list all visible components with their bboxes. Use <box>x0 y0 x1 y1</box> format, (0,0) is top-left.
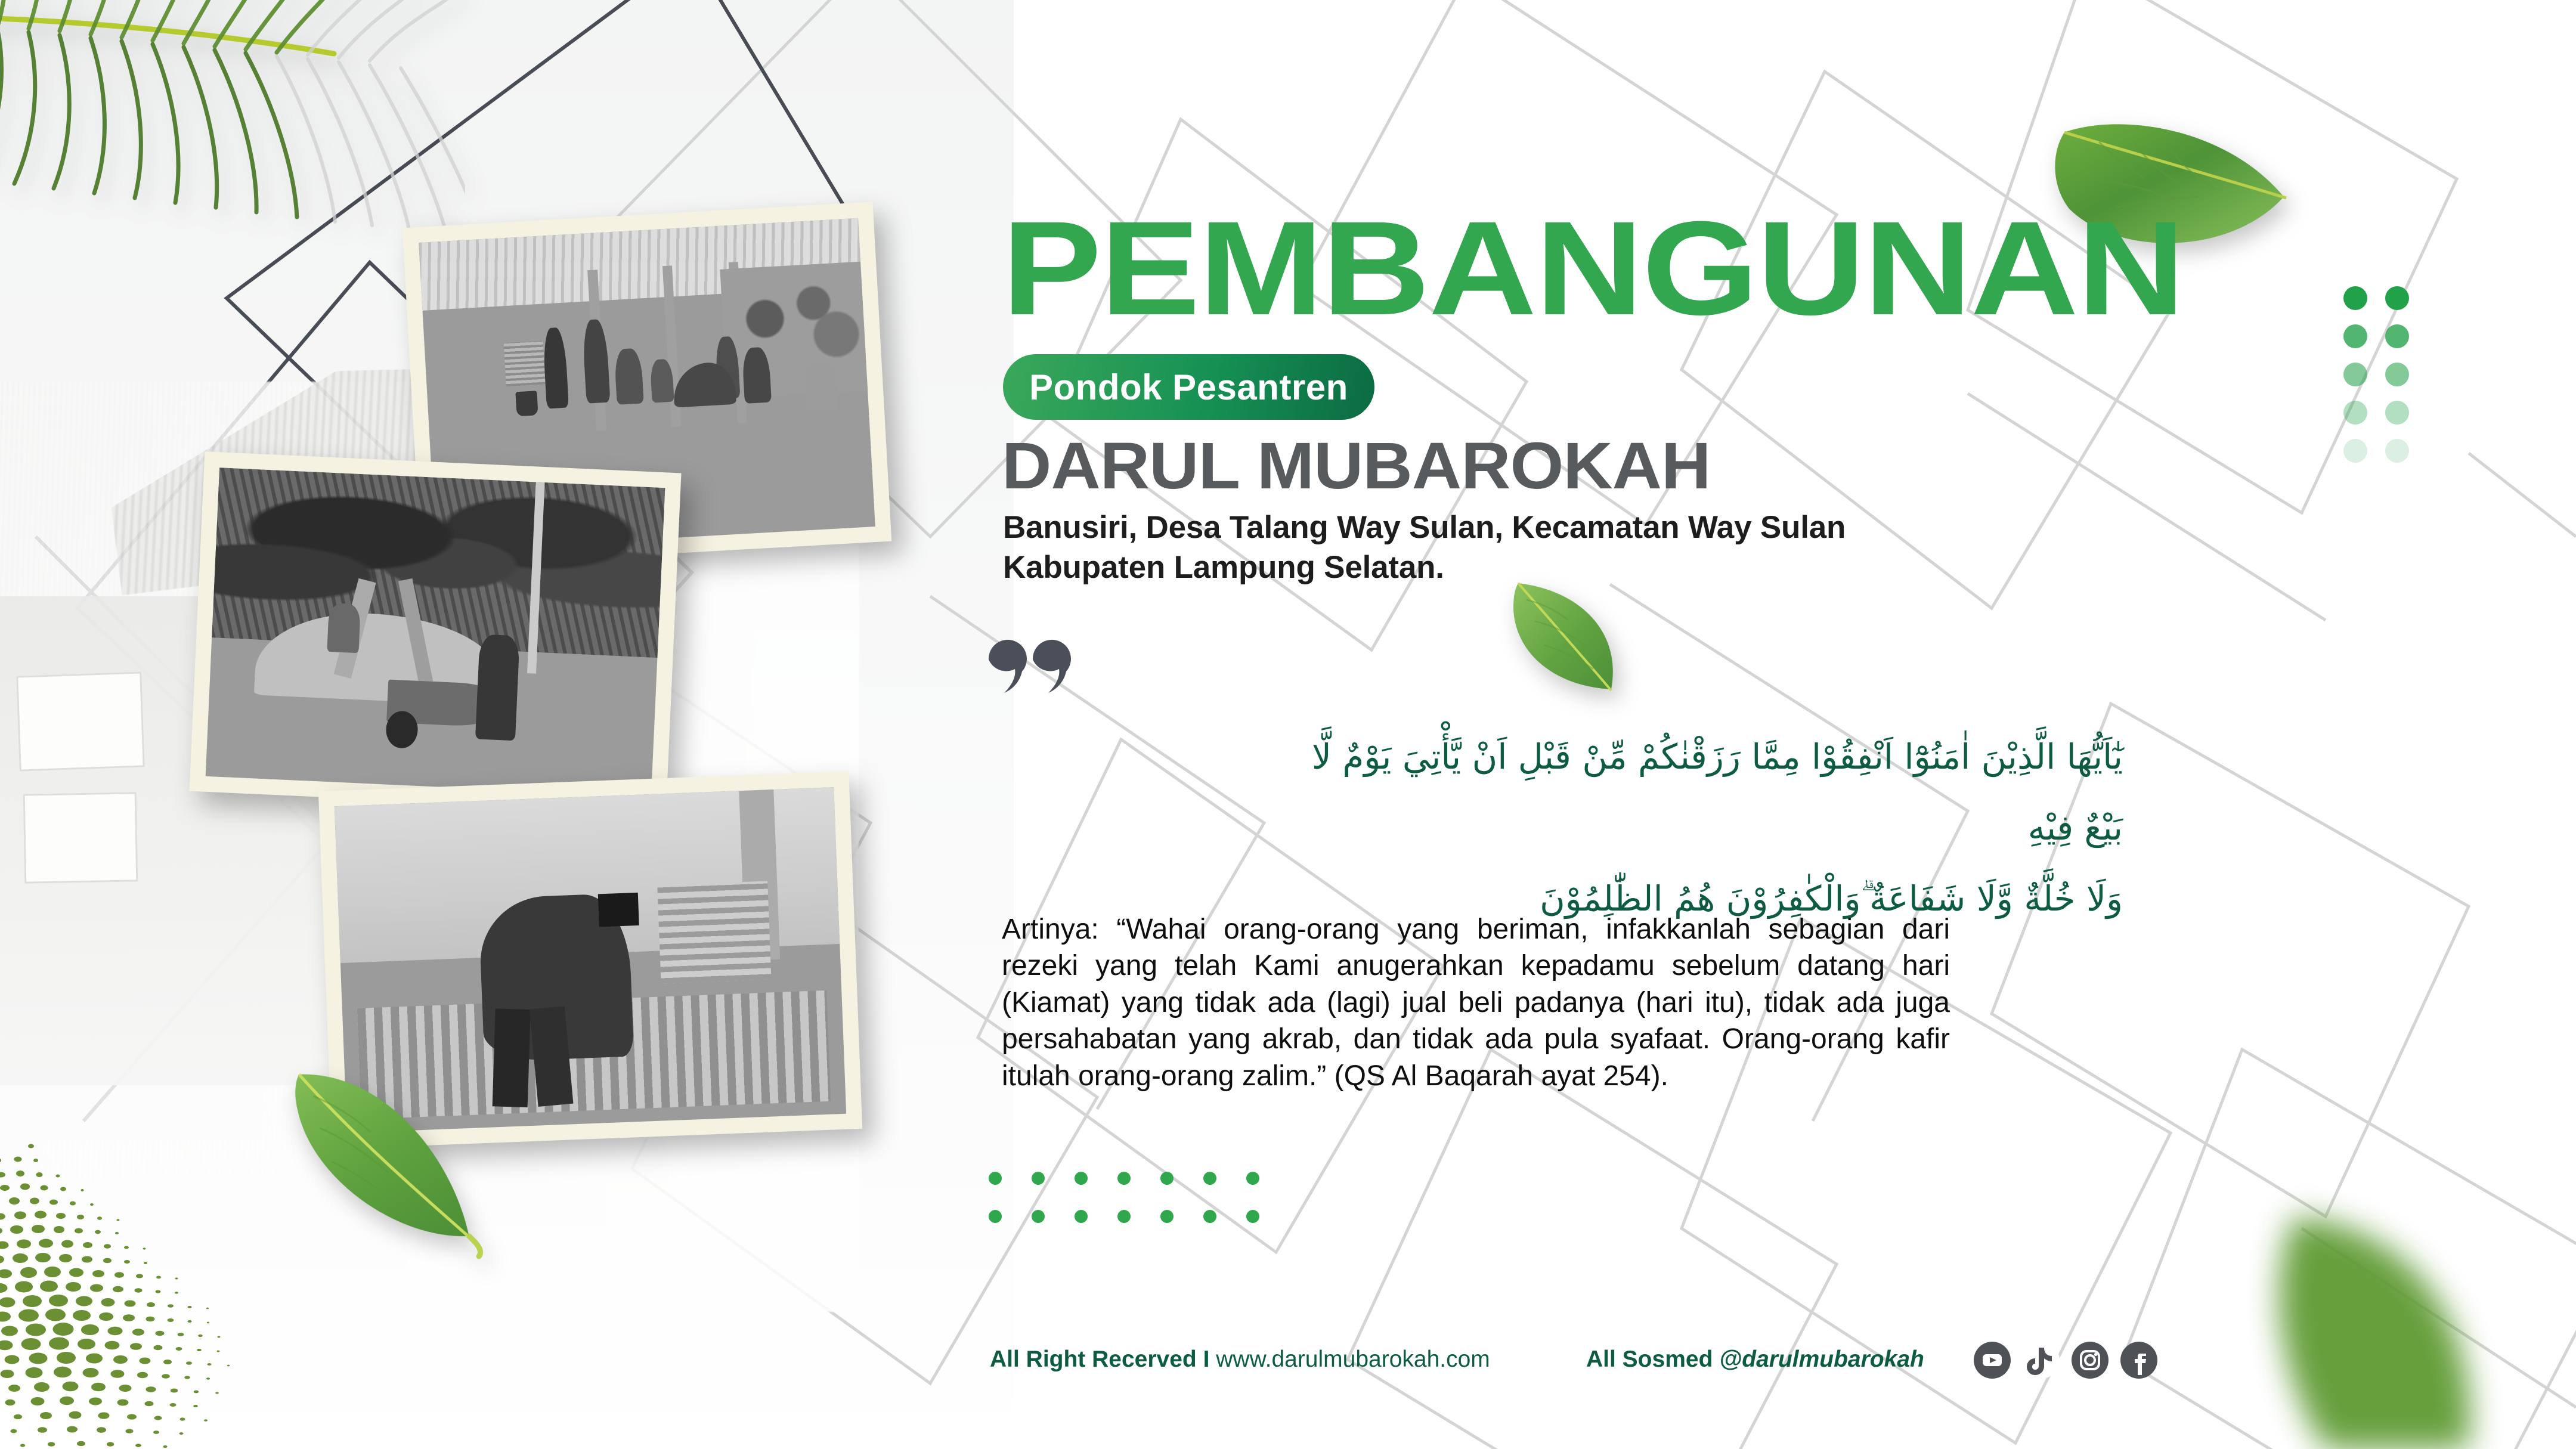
footer: All Right Recerved I www.darulmubarokah.… <box>990 1342 2182 1383</box>
social-icon-row <box>1974 1342 2157 1379</box>
badge-pondok-pesantren: Pondok Pesantren <box>1003 354 1374 420</box>
institution-name: DARUL MUBAROKAH <box>1002 428 1710 504</box>
youtube-icon[interactable] <box>1974 1342 2011 1379</box>
poster-content: PEMBANGUNAN Pondok Pesantren DARUL MUBAR… <box>1002 0 2576 1449</box>
side-dot-column-decoration <box>2343 286 2427 483</box>
address-line-2: Kabupaten Lampung Selatan. <box>1003 548 2017 588</box>
quote-mark-icon <box>984 632 1073 698</box>
address-line-1: Banusiri, Desa Talang Way Sulan, Kecamat… <box>1003 508 2017 548</box>
palm-frond-icon <box>0 0 465 310</box>
facebook-icon[interactable] <box>2120 1342 2157 1379</box>
faded-noticeboard-2 <box>23 792 138 883</box>
sosmed-handle: @darulmubarokah <box>1719 1346 1924 1372</box>
copyright-text: All Right Recerved I www.darulmubarokah.… <box>990 1346 1490 1373</box>
page-title: PEMBANGUNAN <box>1002 209 2184 329</box>
faded-noticeboard-1 <box>16 671 144 771</box>
website-link[interactable]: www.darulmubarokah.com <box>1216 1346 1490 1372</box>
tiktok-icon[interactable] <box>2023 1342 2060 1379</box>
badge-label: Pondok Pesantren <box>1029 367 1348 408</box>
social-handle-text: All Sosmed @darulmubarokah <box>1586 1346 1924 1373</box>
leaf-icon <box>250 1066 543 1337</box>
photo-wheelbarrow-sand <box>189 451 681 813</box>
copyright-label: All Right Recerved I <box>990 1346 1216 1372</box>
arabic-line-1: يٰٓاَيُّهَا الَّذِيْنَ اٰمَنُوْٓا اَنْفِ… <box>1264 722 2123 863</box>
quran-verse-translation: Artinya: “Wahai orang-orang yang beriman… <box>1002 911 1950 1094</box>
address-block: Banusiri, Desa Talang Way Sulan, Kecamat… <box>1003 508 2017 588</box>
dot-grid-decoration <box>989 1172 1269 1231</box>
quran-verse-arabic: يٰٓاَيُّهَا الَّذِيْنَ اٰمَنُوْٓا اَنْفِ… <box>1264 722 2123 934</box>
sosmed-label: All Sosmed <box>1586 1346 1719 1372</box>
instagram-icon[interactable] <box>2072 1342 2109 1379</box>
